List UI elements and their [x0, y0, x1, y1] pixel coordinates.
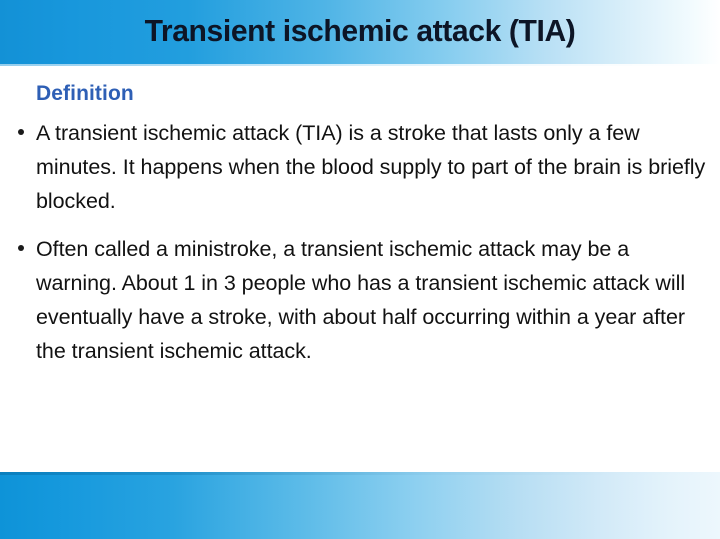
list-item-text: Often called a ministroke, a transient i…: [36, 232, 708, 368]
section-heading: Definition: [36, 82, 134, 106]
list-item: A transient ischemic attack (TIA) is a s…: [0, 116, 708, 218]
list-item: Often called a ministroke, a transient i…: [0, 232, 708, 368]
list-item-text: A transient ischemic attack (TIA) is a s…: [36, 116, 708, 218]
slide-footer-band: [0, 472, 720, 539]
page-title: Transient ischemic attack (TIA): [11, 0, 709, 66]
slide-body: Definition A transient ischemic attack (…: [0, 66, 720, 472]
bullet-list: A transient ischemic attack (TIA) is a s…: [0, 116, 700, 382]
bullet-dot-icon: [18, 129, 24, 135]
slide-header-band: Transient ischemic attack (TIA): [0, 0, 720, 66]
slide: Transient ischemic attack (TIA) Definiti…: [0, 0, 720, 539]
bullet-dot-icon: [18, 245, 24, 251]
